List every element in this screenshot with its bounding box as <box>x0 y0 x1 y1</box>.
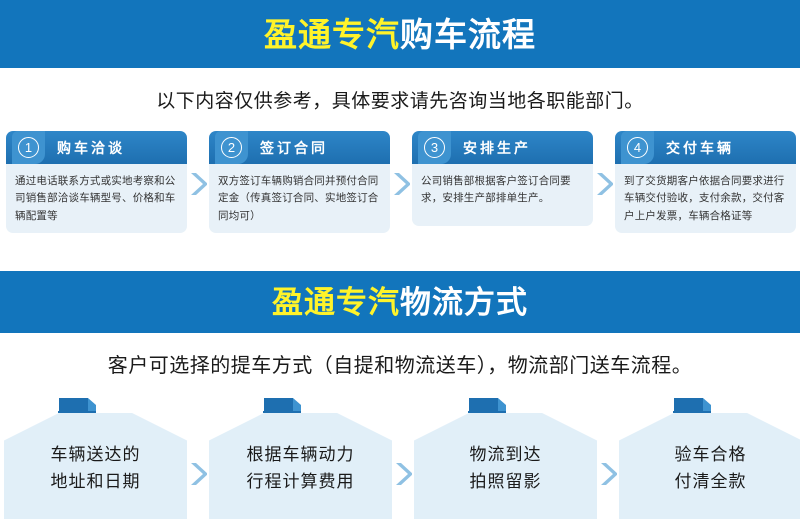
step-2-title: 签订合同 <box>260 138 328 158</box>
step-1-text: 通过电话联系方式或实地考察和公司销售部洽谈车辆型号、价格和车辆配置等 <box>15 173 177 225</box>
logistics-card-1-line2: 地址和日期 <box>4 468 187 495</box>
logistics-card-2[interactable]: 根据车辆动力 行程计算费用 <box>209 393 392 519</box>
logistics-banner-title: 盈通专汽物流方式 <box>272 287 528 318</box>
logistics-subtitle-row: 客户可选择的提车方式（自提和物流送车），物流部门送车流程。 <box>0 333 800 393</box>
logistics-card-3-text: 物流到达 拍照留影 <box>414 441 597 495</box>
logistics-card-4-text: 验车合格 付清全款 <box>619 441 800 495</box>
chevron-right-icon-4 <box>187 393 209 519</box>
purchase-subtitle-row: 以下内容仅供参考，具体要求请先咨询当地各职能部门。 <box>0 68 800 131</box>
step-card-2-header: 2 签订合同 <box>209 131 390 164</box>
logistics-subtitle: 客户可选择的提车方式（自提和物流送车），物流部门送车流程。 <box>108 349 693 378</box>
step-card-3-header: 3 安排生产 <box>412 131 593 164</box>
logistics-banner: 盈通专汽物流方式 <box>0 271 800 333</box>
step-2-text: 双方签订车辆购销合同并预付合同定金（传真签订合同、实地签订合同均可） <box>218 173 380 225</box>
chevron-right-icon-1 <box>187 131 209 237</box>
step-card-3-body: 公司销售部根据客户签订合同要求，安排生产部排单生产。 <box>412 164 593 226</box>
step-1-number: 1 <box>18 137 39 158</box>
step-card-1-body: 通过电话联系方式或实地考察和公司销售部洽谈车辆型号、价格和车辆配置等 <box>6 164 187 233</box>
step-4-title: 交付车辆 <box>666 138 734 158</box>
step-1-title: 购车洽谈 <box>57 138 125 158</box>
logistics-cards-strip: 车辆送达的 地址和日期 根据车辆动力 行程计算费用 <box>0 393 800 519</box>
logistics-card-4-line2: 付清全款 <box>619 468 800 495</box>
logistics-card-4-line1: 验车合格 <box>619 441 800 468</box>
step-4-text: 到了交货期客户依据合同要求进行车辆交付验收，支付余款，交付客户上户发票，车辆合格… <box>624 173 786 225</box>
step-4-number-patch: 4 <box>621 131 654 164</box>
step-card-2-body: 双方签订车辆购销合同并预付合同定金（传真签订合同、实地签订合同均可） <box>209 164 390 233</box>
step-2-number: 2 <box>221 137 242 158</box>
brand-text-2: 盈通专汽 <box>272 285 400 320</box>
logistics-card-3-line1: 物流到达 <box>414 441 597 468</box>
step-4-number: 4 <box>627 137 648 158</box>
step-3-title: 安排生产 <box>463 138 531 158</box>
logistics-card-2-line2: 行程计算费用 <box>209 468 392 495</box>
step-card-1[interactable]: 1 购车洽谈 通过电话联系方式或实地考察和公司销售部洽谈车辆型号、价格和车辆配置… <box>6 131 187 233</box>
step-card-2[interactable]: 2 签订合同 双方签订车辆购销合同并预付合同定金（传真签订合同、实地签订合同均可… <box>209 131 390 233</box>
logistics-card-2-text: 根据车辆动力 行程计算费用 <box>209 441 392 495</box>
step-2-number-patch: 2 <box>215 131 248 164</box>
section-gap <box>0 237 800 271</box>
logistics-banner-subject: 物流方式 <box>400 285 528 320</box>
logistics-card-4[interactable]: 验车合格 付清全款 <box>619 393 800 519</box>
step-card-1-header: 1 购车洽谈 <box>6 131 187 164</box>
chevron-right-icon-5 <box>392 393 414 519</box>
step-3-text: 公司销售部根据客户签订合同要求，安排生产部排单生产。 <box>421 173 583 208</box>
step-1-number-patch: 1 <box>12 131 45 164</box>
chevron-right-icon-6 <box>597 393 619 519</box>
logistics-card-1-text: 车辆送达的 地址和日期 <box>4 441 187 495</box>
chevron-right-icon-2 <box>390 131 412 237</box>
step-card-4-body: 到了交货期客户依据合同要求进行车辆交付验收，支付余款，交付客户上户发票，车辆合格… <box>615 164 796 233</box>
chevron-right-icon-3 <box>593 131 615 237</box>
logistics-card-1[interactable]: 车辆送达的 地址和日期 <box>4 393 187 519</box>
step-card-3[interactable]: 3 安排生产 公司销售部根据客户签订合同要求，安排生产部排单生产。 <box>412 131 593 226</box>
purchase-banner-subject: 购车流程 <box>400 16 536 53</box>
purchase-subtitle: 以下内容仅供参考，具体要求请先咨询当地各职能部门。 <box>156 86 644 113</box>
step-card-4[interactable]: 4 交付车辆 到了交货期客户依据合同要求进行车辆交付验收，支付余款，交付客户上户… <box>615 131 796 233</box>
logistics-card-3[interactable]: 物流到达 拍照留影 <box>414 393 597 519</box>
step-card-4-header: 4 交付车辆 <box>615 131 796 164</box>
step-3-number-patch: 3 <box>418 131 451 164</box>
logistics-card-1-line1: 车辆送达的 <box>4 441 187 468</box>
purchase-steps-strip: 1 购车洽谈 通过电话联系方式或实地考察和公司销售部洽谈车辆型号、价格和车辆配置… <box>0 131 800 237</box>
logistics-card-3-line2: 拍照留影 <box>414 468 597 495</box>
purchase-banner: 盈通专汽购车流程 <box>0 0 800 68</box>
step-3-number: 3 <box>424 137 445 158</box>
brand-text: 盈通专汽 <box>264 16 400 53</box>
purchase-banner-title: 盈通专汽购车流程 <box>264 18 536 51</box>
logistics-card-2-line1: 根据车辆动力 <box>209 441 392 468</box>
